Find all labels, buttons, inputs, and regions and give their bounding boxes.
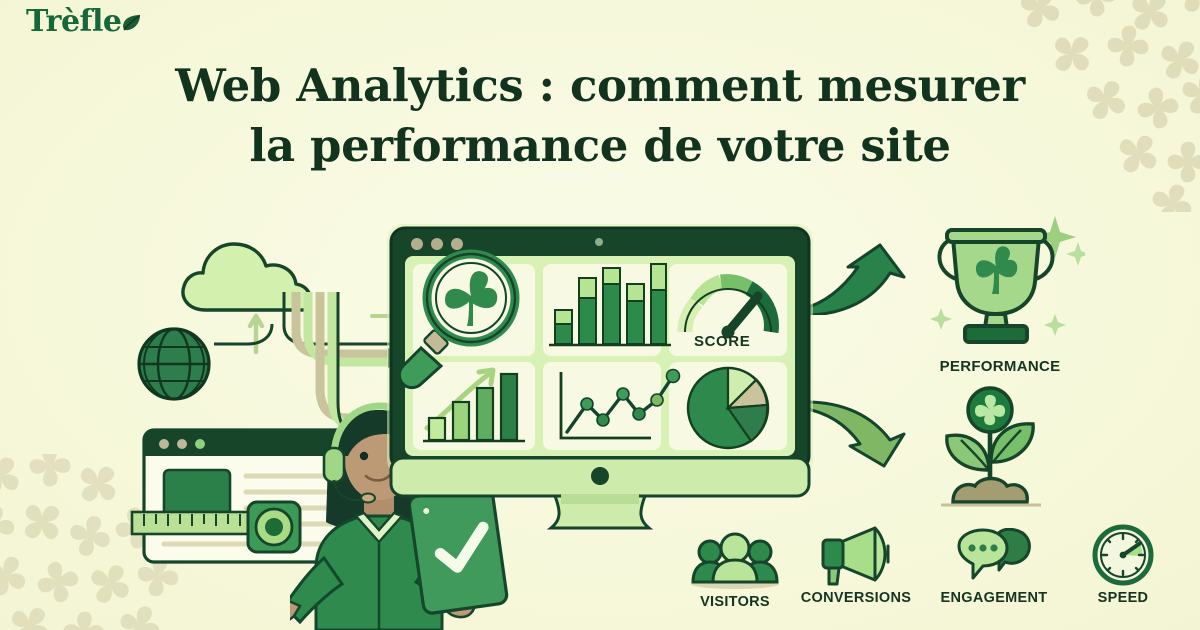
score-gauge-label: SCORE	[694, 333, 750, 350]
trophy-label: PERFORMANCE	[915, 358, 1085, 375]
metric-visitors-label: VISITORS	[680, 594, 790, 610]
measuring-tape-icon	[130, 490, 310, 567]
trophy-badge	[915, 210, 1085, 355]
leaf-icon	[121, 13, 143, 38]
poster-canvas: Trèfle Web Analytics : comment mesurer l…	[0, 0, 1200, 630]
metric-visitors: VISITORS	[680, 528, 790, 610]
brand-logo[interactable]: Trèfle	[26, 6, 143, 38]
metric-conversions-label: CONVERSIONS	[790, 590, 922, 606]
analytics-monitor[interactable]	[385, 222, 815, 537]
flow-arrow-up-right	[800, 243, 910, 320]
speedometer-icon	[1068, 524, 1178, 586]
growth-plant-badge	[925, 382, 1075, 515]
title-line-1: Web Analytics : comment mesurer	[175, 59, 1025, 112]
metric-engagement: ENGAGEMENT	[928, 524, 1060, 606]
metric-speed: SPEED	[1068, 524, 1178, 606]
title-line-2: la performance de votre site	[120, 116, 1080, 176]
people-group-icon	[680, 528, 790, 590]
metric-speed-label: SPEED	[1068, 590, 1178, 606]
globe-icon	[136, 326, 212, 407]
traffic-pie-chart	[688, 368, 768, 448]
brand-logo-text: Trèfle	[26, 7, 121, 37]
chat-bubbles-icon	[928, 524, 1060, 586]
page-title: Web Analytics : comment mesurer la perfo…	[0, 56, 1200, 176]
metric-engagement-label: ENGAGEMENT	[928, 590, 1060, 606]
flow-arrow-down-right	[800, 400, 910, 477]
